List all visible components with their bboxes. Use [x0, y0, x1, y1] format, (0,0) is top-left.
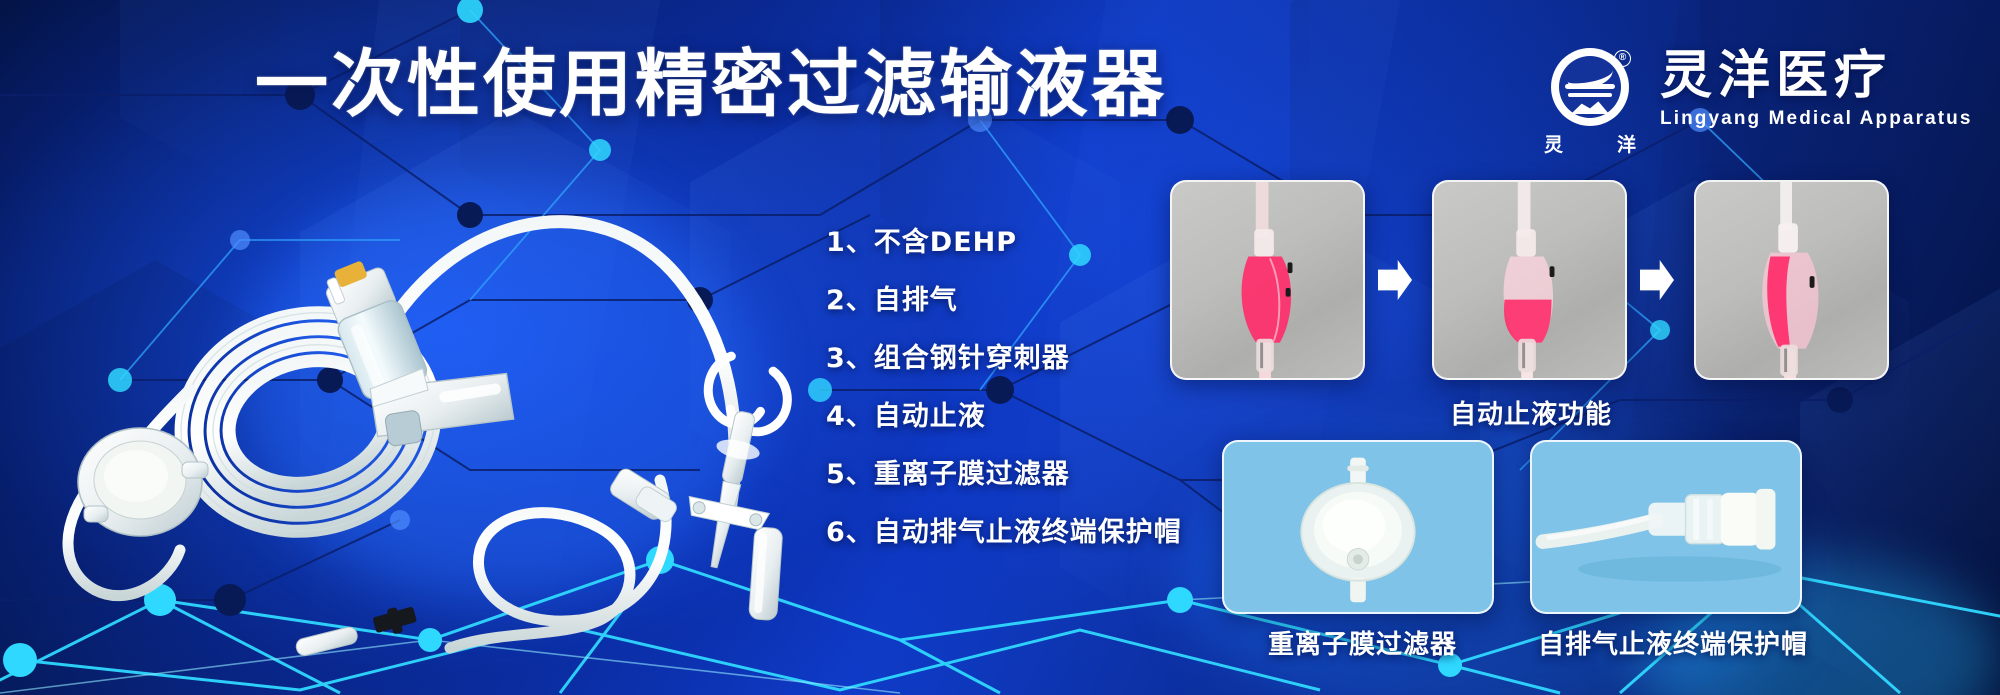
feature-item-6: 6、自动排气止液终端保护帽 — [826, 504, 1182, 562]
page-title: 一次性使用精密过滤输液器 — [255, 48, 1167, 121]
caption-auto-stop-function: 自动止液功能 — [1450, 394, 1612, 431]
feature-item-5: 5、重离子膜过滤器 — [826, 446, 1182, 504]
caption-heavy-ion-filter: 重离子膜过滤器 — [1268, 624, 1457, 661]
feature-item-4: 4、自动止液 — [826, 388, 1182, 446]
logo-sub-char-right: 洋 — [1617, 130, 1636, 157]
logo-emblem-icon: ® 灵 洋 — [1540, 48, 1640, 157]
brand-name-cn: 灵洋医疗 — [1660, 50, 1973, 103]
showcase-panel-filter — [1222, 440, 1494, 614]
logo-sub-char-left: 灵 — [1544, 130, 1563, 157]
promo-banner: 一次性使用精密过滤输液器 ® 灵 洋 灵洋医疗 Lingyang Medical… — [0, 0, 2000, 695]
showcase-panel-cap — [1530, 440, 1802, 614]
caption-terminal-protective-cap: 自排气止液终端保护帽 — [1538, 624, 1808, 661]
product-photo-infusion-set — [40, 150, 830, 670]
feature-item-2: 2、自排气 — [826, 272, 1182, 330]
showcase-frame-2 — [1432, 180, 1627, 380]
registered-trademark-icon: ® — [1614, 50, 1631, 67]
feature-item-3: 3、组合钢针穿刺器 — [826, 330, 1182, 388]
brand-wordmark: 灵洋医疗 Lingyang Medical Apparatus — [1660, 48, 1973, 130]
showcase-frame-3 — [1694, 180, 1889, 380]
feature-item-1: 1、不含DEHP — [826, 214, 1182, 272]
brand-name-en: Lingyang Medical Apparatus — [1660, 108, 1973, 130]
feature-list: 1、不含DEHP 2、自排气 3、组合钢针穿刺器 4、自动止液 5、重离子膜过滤… — [826, 214, 1182, 562]
showcase-frame-1 — [1170, 180, 1365, 380]
brand-logo: ® 灵 洋 灵洋医疗 Lingyang Medical Apparatus — [1540, 48, 1973, 157]
